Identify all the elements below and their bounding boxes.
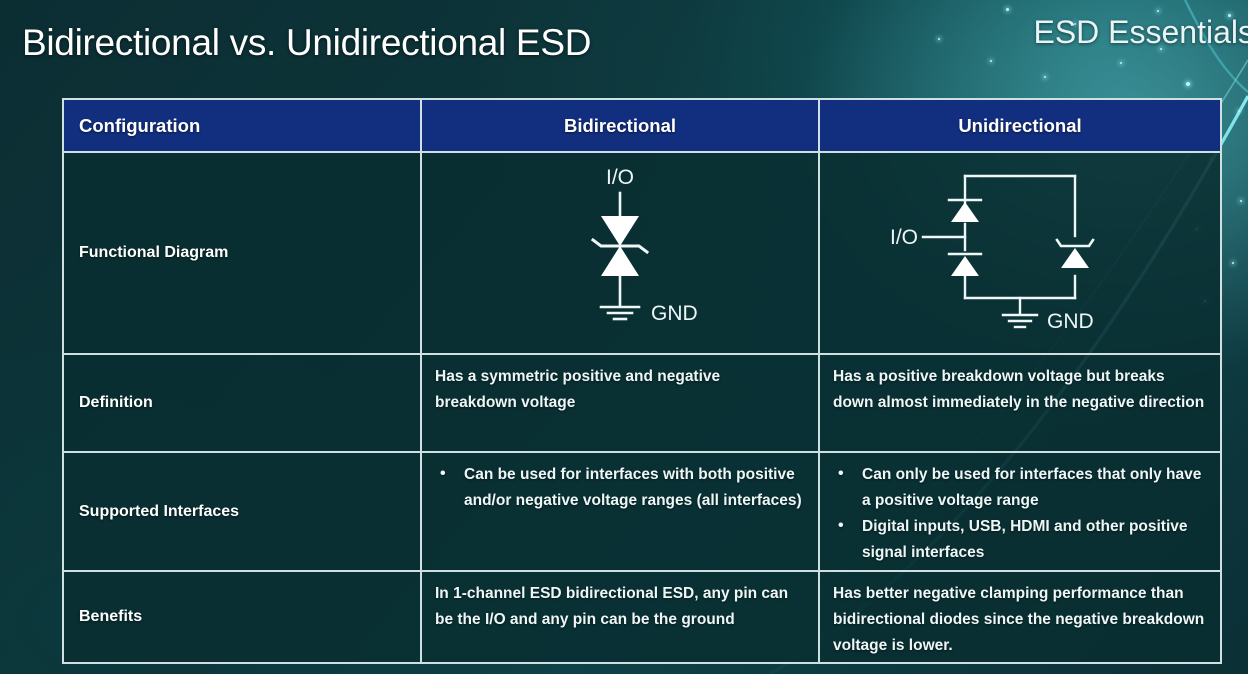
header-label: Unidirectional [958,115,1081,137]
comparison-table: Configuration Bidirectional Unidirection… [62,98,1222,664]
bullet-list: Can only be used for interfaces that onl… [820,453,1220,566]
list-item: Digital inputs, USB, HDMI and other posi… [832,514,1208,566]
star-dot [1186,82,1190,86]
header-label: Configuration [79,115,200,137]
star-dot [1232,262,1234,264]
star-dot [1240,200,1242,202]
io-label: I/O [606,166,634,189]
star-dot [1044,76,1046,78]
slide-canvas: Bidirectional vs. Unidirectional ESD ESD… [0,0,1248,674]
cell-text: In 1-channel ESD bidirectional ESD, any … [422,572,818,633]
table-row: Supported Interfaces Can be used for int… [64,453,1220,572]
row-label-cell: Supported Interfaces [64,453,422,570]
unidirectional-benefits-cell: Has better negative clamping performance… [820,572,1220,662]
row-label-cell: Functional Diagram [64,153,422,353]
gnd-label: GND [651,302,698,325]
bullet-list: Can be used for interfaces with both pos… [422,453,818,514]
cell-text: Has a positive breakdown voltage but bre… [820,355,1220,416]
table-row: Definition Has a symmetric positive and … [64,355,1220,453]
star-dot [1120,62,1122,64]
unidirectional-definition-cell: Has a positive breakdown voltage but bre… [820,355,1220,451]
star-dot [1006,8,1009,11]
table-header-row: Configuration Bidirectional Unidirection… [64,100,1220,153]
row-label: Supported Interfaces [64,453,420,570]
star-dot [1238,110,1240,112]
bidirectional-definition-cell: Has a symmetric positive and negative br… [422,355,820,451]
table-header-configuration: Configuration [64,100,422,151]
unidirectional-steering-diode-schematic: I/O GND [885,158,1155,348]
unidirectional-diagram-cell: I/O GND [820,153,1220,353]
bidirectional-interfaces-cell: Can be used for interfaces with both pos… [422,453,820,570]
table-row: Functional Diagram [64,153,1220,355]
star-dot [990,60,992,62]
star-dot [1157,10,1159,12]
row-label-cell: Benefits [64,572,422,662]
slide-series-label: ESD Essentials [1033,14,1248,51]
bidirectional-diagram-cell: I/O GND [422,153,820,353]
row-label: Definition [64,355,420,451]
io-label: I/O [890,226,918,249]
bidirectional-tvs-diode-schematic: I/O GND [505,158,735,348]
row-label: Functional Diagram [64,153,420,353]
bidirectional-benefits-cell: In 1-channel ESD bidirectional ESD, any … [422,572,820,662]
cell-text: Has better negative clamping performance… [820,572,1220,659]
unidirectional-interfaces-cell: Can only be used for interfaces that onl… [820,453,1220,570]
table-row: Benefits In 1-channel ESD bidirectional … [64,572,1220,662]
row-label: Benefits [64,572,420,662]
page-title: Bidirectional vs. Unidirectional ESD [22,22,591,64]
table-header-bidirectional: Bidirectional [422,100,820,151]
table-header-unidirectional: Unidirectional [820,100,1220,151]
gnd-label: GND [1047,310,1094,333]
list-item: Can be used for interfaces with both pos… [434,462,806,514]
header-label: Bidirectional [564,115,676,137]
star-dot [938,38,940,40]
list-item: Can only be used for interfaces that onl… [832,462,1208,514]
cell-text: Has a symmetric positive and negative br… [422,355,818,416]
row-label-cell: Definition [64,355,422,451]
